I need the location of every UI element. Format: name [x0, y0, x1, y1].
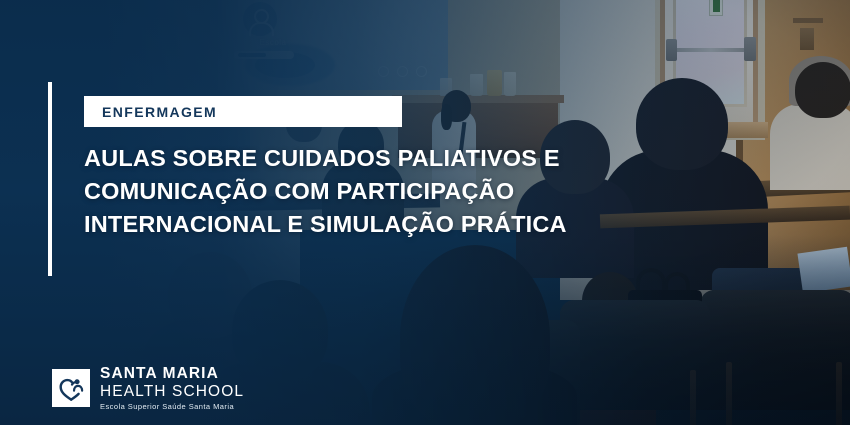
- school-logo: SANTA MARIA HEALTH SCHOOL Escola Superio…: [52, 366, 244, 411]
- headline-line-1: AULAS SOBRE CUIDADOS PALIATIVOS E: [84, 142, 684, 175]
- vertical-accent-bar: [48, 82, 52, 276]
- category-label: ENFERMAGEM: [102, 104, 217, 120]
- logo-wordmark: SANTA MARIA HEALTH SCHOOL Escola Superio…: [100, 366, 244, 411]
- page-title: AULAS SOBRE CUIDADOS PALIATIVOS E COMUNI…: [84, 142, 684, 241]
- logo-line-2: HEALTH SCHOOL: [100, 384, 244, 400]
- headline-line-3: INTERNACIONAL E SIMULAÇÃO PRÁTICA: [84, 208, 684, 241]
- headline-line-2: COMUNICAÇÃO COM PARTICIPAÇÃO: [84, 175, 684, 208]
- logo-line-1: SANTA MARIA: [100, 366, 244, 382]
- article-hero-banner: Escola: [0, 0, 850, 425]
- logo-tagline: Escola Superior Saúde Santa Maria: [100, 403, 244, 411]
- category-badge: ENFERMAGEM: [84, 96, 402, 127]
- heart-person-icon: [52, 369, 90, 407]
